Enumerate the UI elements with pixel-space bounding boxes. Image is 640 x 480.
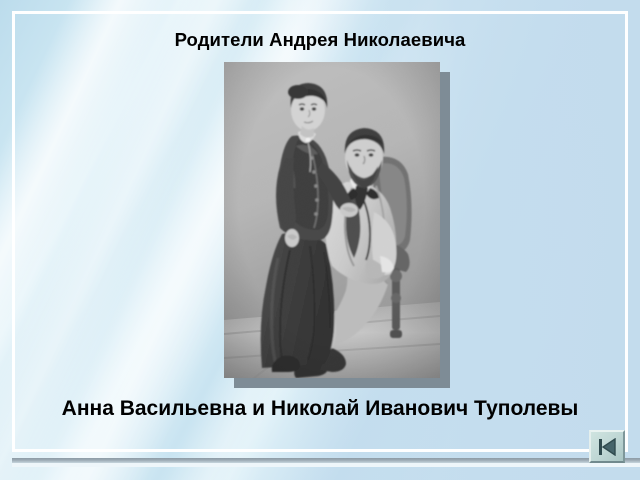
skip-to-start-icon	[597, 438, 617, 456]
historical-portrait-photograph	[224, 62, 440, 378]
photo-container	[224, 62, 440, 378]
previous-slide-button[interactable]	[589, 430, 625, 463]
presentation-slide: Родители Андрея Николаевича	[0, 0, 640, 480]
photo-caption: Анна Васильевна и Николай Иванович Тупол…	[0, 396, 640, 422]
bottom-highlight-bar	[12, 463, 640, 467]
page-title: Родители Андрея Николаевича	[0, 28, 640, 52]
